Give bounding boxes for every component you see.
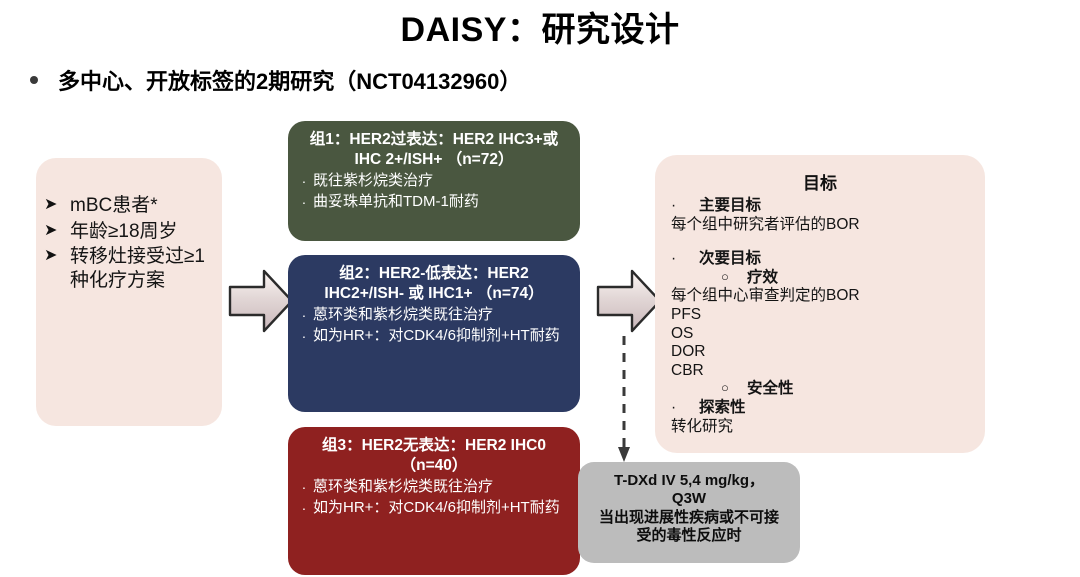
treatment-line: T-DXd IV 5,4 mg/kg， [586, 472, 792, 490]
page-title: DAISY：研究设计 [0, 2, 1080, 51]
cohort-bullet-list: · 既往紫杉烷类治疗 · 曲妥珠单抗和TDM-1耐药 [295, 172, 573, 212]
circle-bullet-icon: ○ [721, 269, 747, 285]
objective-text: 转化研究 [671, 418, 733, 437]
list-item: · 如为HR+：对CDK4/6抑制剂+HT耐药 [295, 499, 573, 518]
objective-line: OS [669, 325, 971, 344]
cohort-bullet-text: 如为HR+：对CDK4/6抑制剂+HT耐药 [313, 499, 573, 518]
cohort-heading: 组1：HER2过表达：HER2 IHC3+或 IHC 2+/ISH+ （n=72… [295, 130, 573, 170]
list-item: ➤ mBC患者* [44, 194, 212, 218]
cohort-bullet-text: 如为HR+：对CDK4/6抑制剂+HT耐药 [313, 327, 573, 346]
bullet-icon: · [295, 306, 313, 324]
treatment-box: T-DXd IV 5,4 mg/kg， Q3W 当出现进展性疾病或不可接 受的毒… [578, 462, 800, 563]
objectives-title: 目标 [669, 169, 971, 194]
bullet-icon: · [669, 399, 699, 418]
cohort-box-3: 组3：HER2无表达：HER2 IHC0 （n=40） · 蒽环类和紫杉烷类既往… [288, 427, 580, 575]
subtitle-row: 多中心、开放标签的2期研究（NCT04132960） [30, 64, 521, 96]
subtitle-text: 多中心、开放标签的2期研究（NCT04132960） [58, 64, 521, 96]
bullet-icon: · [295, 172, 313, 190]
objective-line: 转化研究 [669, 418, 971, 437]
cohort-bullet-list: · 蒽环类和紫杉烷类既往治疗 · 如为HR+：对CDK4/6抑制剂+HT耐药 [295, 306, 573, 346]
bullet-icon: · [295, 327, 313, 345]
objective-line: PFS [669, 306, 971, 325]
arrow-bullet-icon: ➤ [44, 245, 70, 267]
eligibility-item-text: mBC患者* [70, 194, 212, 218]
arrow-bullet-icon: ➤ [44, 194, 70, 216]
objective-line: · 探索性 [669, 399, 971, 418]
objective-text: 主要目标 [699, 197, 761, 216]
eligibility-item-text: 转移灶接受过≥1种化疗方案 [70, 245, 212, 292]
objectives-panel: 目标 · 主要目标 每个组中研究者评估的BOR · 次要目标 ○ 疗效 每个组中… [655, 155, 985, 453]
objective-spacer [669, 234, 971, 250]
cohort-heading: 组2：HER2-低表达：HER2 IHC2+/ISH- 或 IHC1+ （n=7… [295, 264, 573, 304]
cohort-box-2: 组2：HER2-低表达：HER2 IHC2+/ISH- 或 IHC1+ （n=7… [288, 255, 580, 412]
list-item: · 如为HR+：对CDK4/6抑制剂+HT耐药 [295, 327, 573, 346]
objective-text: 安全性 [747, 380, 794, 399]
treatment-line: Q3W [586, 490, 792, 508]
objective-line: 每个组中研究者评估的BOR [669, 216, 971, 235]
objective-text: 每个组中心审查判定的BOR [671, 287, 860, 306]
cohort-bullet-text: 既往紫杉烷类治疗 [313, 172, 573, 191]
eligibility-panel: ➤ mBC患者* ➤ 年龄≥18周岁 ➤ 转移灶接受过≥1种化疗方案 [36, 158, 222, 426]
flow-arrow-right-icon [228, 264, 294, 338]
bullet-dot-icon [30, 76, 38, 84]
bullet-icon: · [669, 197, 699, 216]
list-item: · 曲妥珠单抗和TDM-1耐药 [295, 193, 573, 212]
bullet-icon: · [295, 193, 313, 211]
bullet-icon: · [295, 478, 313, 496]
objective-text: 探索性 [699, 399, 746, 418]
cohort-box-1: 组1：HER2过表达：HER2 IHC3+或 IHC 2+/ISH+ （n=72… [288, 121, 580, 241]
objective-text: DOR [671, 343, 705, 362]
cohort-heading: 组3：HER2无表达：HER2 IHC0 （n=40） [295, 436, 573, 476]
objective-text: 疗效 [747, 269, 778, 288]
objective-text: 每个组中研究者评估的BOR [671, 216, 860, 235]
cohort-bullet-text: 曲妥珠单抗和TDM-1耐药 [313, 193, 573, 212]
objectives-lines: · 主要目标 每个组中研究者评估的BOR · 次要目标 ○ 疗效 每个组中心审查… [669, 197, 971, 436]
flow-arrow-right-icon [596, 264, 662, 338]
objective-line: CBR [669, 362, 971, 381]
objective-text: CBR [671, 362, 704, 381]
eligibility-list: ➤ mBC患者* ➤ 年龄≥18周岁 ➤ 转移灶接受过≥1种化疗方案 [44, 194, 212, 292]
list-item: · 既往紫杉烷类治疗 [295, 172, 573, 191]
list-item: · 蒽环类和紫杉烷类既往治疗 [295, 478, 573, 497]
objective-line: · 主要目标 [669, 197, 971, 216]
cohort-bullet-text: 蒽环类和紫杉烷类既往治疗 [313, 306, 573, 325]
arrow-bullet-icon: ➤ [44, 220, 70, 242]
circle-bullet-icon: ○ [721, 380, 747, 396]
bullet-icon: · [669, 250, 699, 269]
objective-text: PFS [671, 306, 701, 325]
objective-line: 每个组中心审查判定的BOR [669, 287, 971, 306]
objective-line: DOR [669, 343, 971, 362]
objective-line: · 次要目标 [669, 250, 971, 269]
list-item: ➤ 年龄≥18周岁 [44, 220, 212, 244]
list-item: ➤ 转移灶接受过≥1种化疗方案 [44, 245, 212, 292]
cohort-bullet-list: · 蒽环类和紫杉烷类既往治疗 · 如为HR+：对CDK4/6抑制剂+HT耐药 [295, 478, 573, 518]
objective-text: OS [671, 325, 693, 344]
cohort-bullet-text: 蒽环类和紫杉烷类既往治疗 [313, 478, 573, 497]
list-item: · 蒽环类和紫杉烷类既往治疗 [295, 306, 573, 325]
dashed-flow-arrow-down-icon [614, 336, 634, 464]
objective-line: ○ 疗效 [669, 269, 971, 288]
eligibility-item-text: 年龄≥18周岁 [70, 220, 212, 244]
treatment-line: 当出现进展性疾病或不可接 [586, 509, 792, 527]
objective-text: 次要目标 [699, 250, 761, 269]
treatment-line: 受的毒性反应时 [586, 527, 792, 545]
objective-line: ○ 安全性 [669, 380, 971, 399]
bullet-icon: · [295, 499, 313, 517]
